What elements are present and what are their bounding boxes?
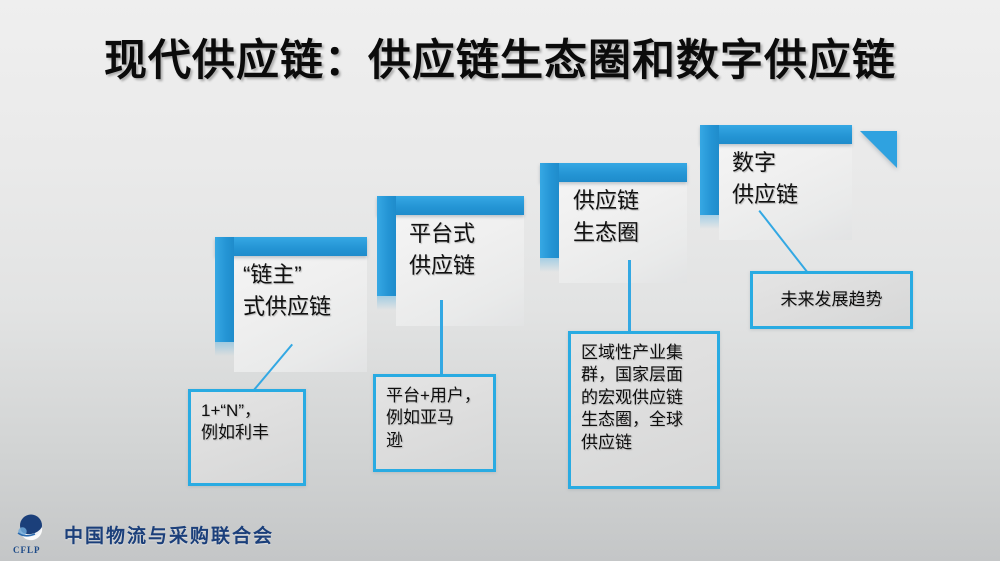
- step-4-label: 数字 供应链: [732, 147, 857, 211]
- step-4[interactable]: 数字 供应链: [700, 125, 852, 240]
- step-4-left-bar: [700, 125, 719, 215]
- step-1-left-bar: [215, 237, 234, 342]
- step-4-reflection: [700, 215, 719, 229]
- step-4-top-bar: [700, 125, 852, 144]
- connector-step-2: [440, 300, 443, 376]
- page-title: 现代供应链：供应链生态圈和数字供应链: [0, 26, 1000, 88]
- cflp-logo-text: CFLP: [13, 545, 41, 555]
- step-3-top-bar: [540, 163, 687, 182]
- callout-3[interactable]: 区域性产业集 群，国家层面 的宏观供应链 生态圈，全球 供应链: [568, 331, 720, 489]
- step-2-reflection: [377, 296, 396, 310]
- organization-name: 中国物流与采购联合会: [64, 521, 274, 548]
- step-3-arrow-icon: [860, 131, 897, 168]
- callout-4[interactable]: 未来发展趋势: [750, 271, 913, 329]
- step-3-label: 供应链 生态圈: [573, 185, 693, 249]
- step-3-left-bar: [540, 163, 559, 258]
- step-1[interactable]: “链主” 式供应链: [215, 237, 367, 372]
- slide-canvas: 现代供应链：供应链生态圈和数字供应链 “链主” 式供应链 平台式 供应链 供应链…: [0, 0, 1000, 561]
- step-1-top-bar: [215, 237, 367, 256]
- step-2-top-bar: [377, 196, 524, 215]
- step-2-left-bar: [377, 196, 396, 296]
- cflp-logo: CFLP: [10, 513, 54, 555]
- connector-step-3: [628, 260, 631, 332]
- callout-1[interactable]: 1+“N”， 例如利丰: [188, 389, 306, 486]
- step-3-reflection: [540, 258, 559, 272]
- step-1-label: “链主” 式供应链: [243, 259, 373, 323]
- cflp-globe-icon: [14, 513, 46, 543]
- step-2-label: 平台式 供应链: [409, 218, 529, 282]
- callout-2[interactable]: 平台+用户， 例如亚马 逊: [373, 374, 496, 472]
- step-3[interactable]: 供应链 生态圈: [540, 163, 687, 283]
- step-2[interactable]: 平台式 供应链: [377, 196, 524, 326]
- step-1-reflection: [215, 342, 234, 356]
- footer: CFLP 中国物流与采购联合会: [10, 513, 274, 555]
